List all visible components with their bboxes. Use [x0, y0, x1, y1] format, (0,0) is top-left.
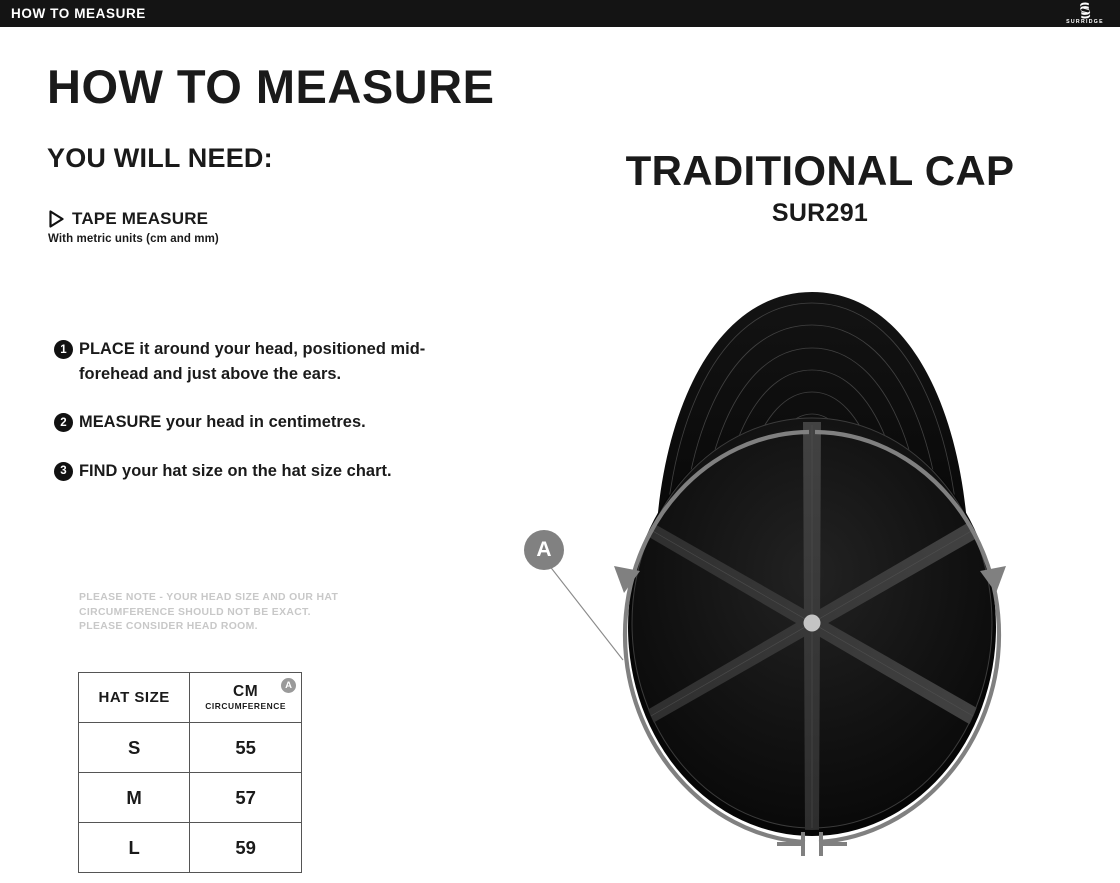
- step-text: FIND your hat size on the hat size chart…: [79, 459, 392, 484]
- surridge-s-logo-icon: [1077, 2, 1093, 19]
- table-row: S 55: [79, 723, 302, 773]
- tool-requirement: TAPE MEASURE With metric units (cm and m…: [48, 209, 448, 245]
- step-text: PLACE it around your head, positioned mi…: [79, 337, 454, 386]
- brand-name: SURRIDGE: [1066, 20, 1104, 25]
- measurement-a-badge: A: [281, 678, 296, 693]
- page-title: HOW TO MEASURE: [47, 63, 494, 110]
- cell-hat-size: L: [79, 823, 190, 873]
- table-row: L 59: [79, 823, 302, 873]
- table-header-row: HAT SIZE CM CIRCUMFERENCE A: [79, 673, 302, 723]
- cell-hat-size: M: [79, 773, 190, 823]
- column-header-hat-size: HAT SIZE: [79, 673, 190, 723]
- header-title: HOW TO MEASURE: [11, 6, 146, 21]
- step-number-badge: 2: [54, 413, 73, 432]
- cap-centre-button: [804, 615, 821, 632]
- table-row: M 57: [79, 773, 302, 823]
- step-text: MEASURE your head in centimetres.: [79, 410, 366, 435]
- cell-cm: 55: [190, 723, 302, 773]
- triangle-right-icon: [48, 210, 65, 228]
- you-will-need-heading: YOU WILL NEED:: [47, 145, 273, 172]
- cell-hat-size: S: [79, 723, 190, 773]
- tool-name: TAPE MEASURE: [72, 209, 208, 229]
- cap-top-view-illustration: [500, 270, 1120, 883]
- top-header-bar: HOW TO MEASURE SURRIDGE: [0, 0, 1120, 27]
- measure-steps-list: 1 PLACE it around your head, positioned …: [54, 337, 454, 507]
- list-item: 1 PLACE it around your head, positioned …: [54, 337, 454, 386]
- step-number-badge: 3: [54, 462, 73, 481]
- cell-cm: 57: [190, 773, 302, 823]
- cap-crown: [628, 418, 996, 836]
- brand-logo: SURRIDGE: [1062, 2, 1108, 26]
- measure-leader-line: [545, 560, 623, 660]
- column-header-cm: CM CIRCUMFERENCE A: [190, 673, 302, 723]
- product-code: SUR291: [480, 201, 1120, 226]
- measurement-a-label: A: [524, 530, 564, 570]
- list-item: 2 MEASURE your head in centimetres.: [54, 410, 454, 435]
- product-title: TRADITIONAL CAP: [480, 150, 1120, 192]
- tool-subtitle: With metric units (cm and mm): [48, 233, 448, 245]
- list-item: 3 FIND your hat size on the hat size cha…: [54, 459, 454, 484]
- step-number-badge: 1: [54, 340, 73, 359]
- disclaimer-note: PLEASE NOTE - YOUR HEAD SIZE AND OUR HAT…: [79, 591, 338, 635]
- cell-cm: 59: [190, 823, 302, 873]
- hat-size-chart-table: HAT SIZE CM CIRCUMFERENCE A S 55 M 57 L …: [78, 672, 302, 873]
